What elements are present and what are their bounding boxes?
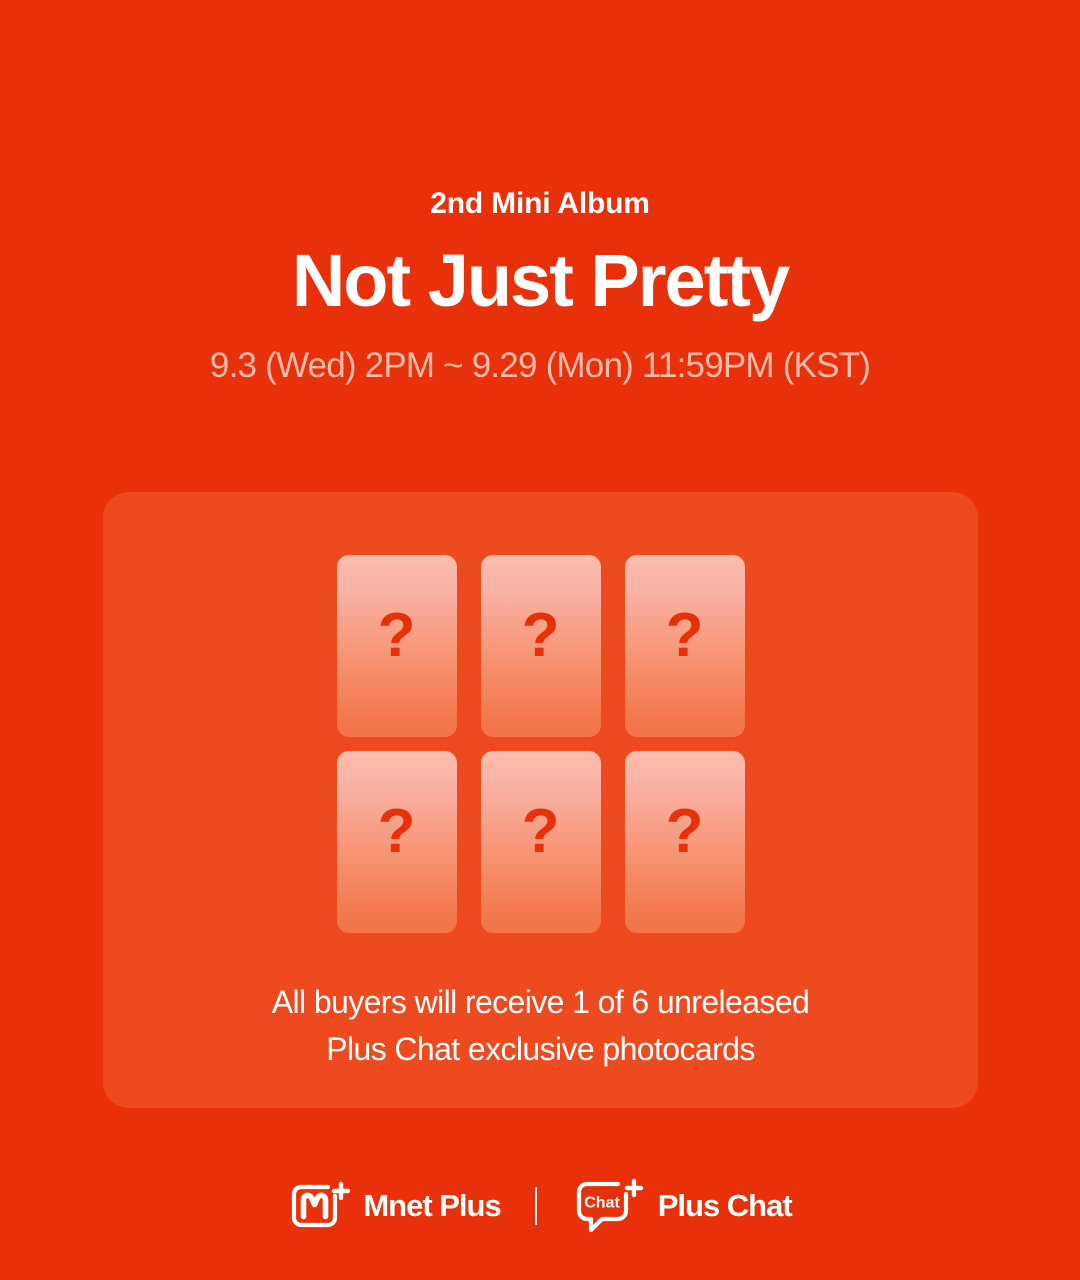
question-mark-icon: ? xyxy=(666,801,704,863)
brand-plus-chat: Chat Plus Chat xyxy=(571,1178,792,1234)
mnet-plus-logo-icon xyxy=(288,1181,350,1231)
caption-line-1: All buyers will receive 1 of 6 unrelease… xyxy=(272,979,809,1026)
photocard: ? xyxy=(625,555,745,737)
question-mark-icon: ? xyxy=(378,801,416,863)
question-mark-icon: ? xyxy=(378,605,416,667)
brand-divider xyxy=(535,1187,537,1225)
poster-header: 2nd Mini Album Not Just Pretty 9.3 (Wed)… xyxy=(0,0,1080,387)
photocard: ? xyxy=(337,751,457,933)
photocard-grid: ? ? ? ? ? ? xyxy=(337,555,745,933)
question-mark-icon: ? xyxy=(522,801,560,863)
chat-bubble-text: Chat xyxy=(584,1195,620,1212)
album-eyebrow: 2nd Mini Album xyxy=(0,186,1080,222)
brand-footer: Mnet Plus Chat Plus Chat xyxy=(0,1178,1080,1234)
photocard: ? xyxy=(481,751,601,933)
photocard-caption: All buyers will receive 1 of 6 unrelease… xyxy=(272,979,809,1072)
date-range: 9.3 (Wed) 2PM ~ 9.29 (Mon) 11:59PM (KST) xyxy=(0,345,1080,387)
photocard: ? xyxy=(337,555,457,737)
question-mark-icon: ? xyxy=(666,605,704,667)
brand-label-plus-chat: Plus Chat xyxy=(658,1188,792,1224)
brand-label-mnet-plus: Mnet Plus xyxy=(363,1188,500,1224)
photocard: ? xyxy=(481,555,601,737)
photocard-panel: ? ? ? ? ? ? All buyers will receive 1 of… xyxy=(103,492,978,1108)
photocard: ? xyxy=(625,751,745,933)
promo-poster: 2nd Mini Album Not Just Pretty 9.3 (Wed)… xyxy=(0,0,1080,1280)
album-title: Not Just Pretty xyxy=(0,240,1080,323)
question-mark-icon: ? xyxy=(522,605,560,667)
caption-line-2: Plus Chat exclusive photocards xyxy=(272,1026,809,1073)
brand-mnet-plus: Mnet Plus xyxy=(288,1181,500,1231)
plus-chat-logo-icon: Chat xyxy=(571,1178,645,1234)
